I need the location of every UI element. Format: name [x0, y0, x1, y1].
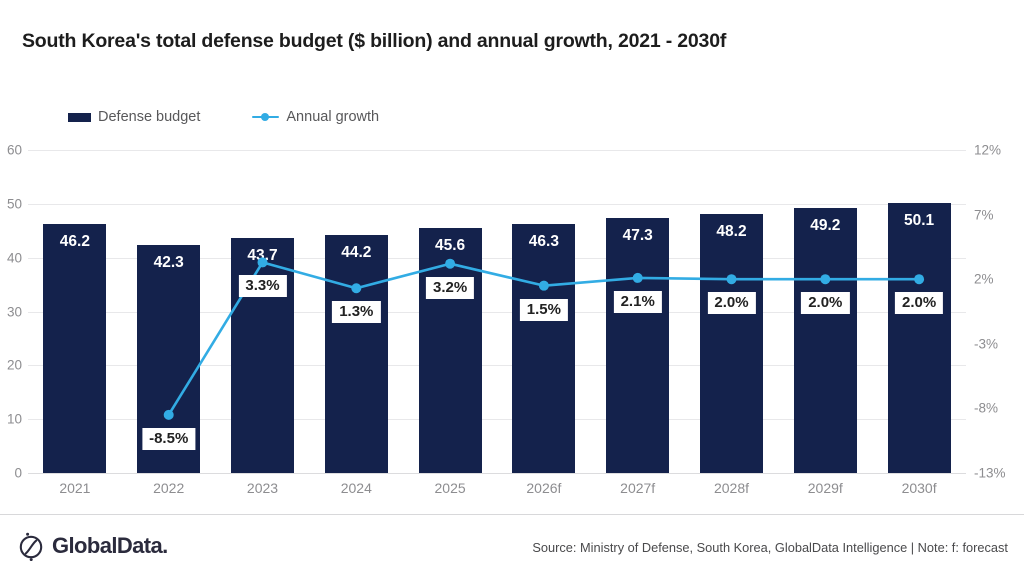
- y-axis-right-tick: -8%: [974, 401, 998, 416]
- y-axis-left-tick: 60: [7, 143, 22, 158]
- chart-legend: Defense budget Annual growth: [68, 106, 379, 128]
- legend-label-annual-growth: Annual growth: [286, 109, 379, 125]
- growth-value-label: 2.0%: [895, 292, 943, 314]
- y-axis-left-tick: 50: [7, 196, 22, 211]
- footer: GlobalData. Source: Ministry of Defense,…: [0, 515, 1024, 576]
- growth-value-label: 2.1%: [614, 291, 662, 313]
- globaldata-logo: GlobalData.: [18, 531, 168, 561]
- x-axis-tick-2030f: 2030f: [902, 480, 937, 496]
- y-axis-left-tick: 30: [7, 304, 22, 319]
- x-axis-tick-2022: 2022: [153, 480, 184, 496]
- source-note: Source: Ministry of Defense, South Korea…: [532, 540, 1008, 555]
- y-axis-right: -13%-8%-3%2%7%12%: [974, 150, 1022, 473]
- growth-data-point[interactable]: [351, 283, 361, 293]
- x-axis-tick-2021: 2021: [59, 480, 90, 496]
- y-axis-right-tick: 12%: [974, 143, 1001, 158]
- bar-swatch-icon: [68, 113, 91, 122]
- x-axis-tick-2027f: 2027f: [620, 480, 655, 496]
- legend-item-annual-growth[interactable]: Annual growth: [252, 106, 379, 128]
- chart-page: South Korea's total defense budget ($ bi…: [0, 0, 1024, 576]
- growth-data-point[interactable]: [633, 273, 643, 283]
- growth-data-point[interactable]: [164, 410, 174, 420]
- y-axis-left: 0102030405060: [0, 150, 22, 473]
- growth-data-point[interactable]: [258, 257, 268, 267]
- y-axis-left-tick: 10: [7, 412, 22, 427]
- page-title: South Korea's total defense budget ($ bi…: [22, 30, 726, 53]
- x-axis-tick-2024: 2024: [341, 480, 372, 496]
- y-axis-right-tick: -3%: [974, 336, 998, 351]
- growth-value-label: 1.3%: [332, 301, 380, 323]
- legend-item-defense-budget[interactable]: Defense budget: [68, 106, 200, 128]
- legend-label-defense-budget: Defense budget: [98, 109, 200, 125]
- growth-value-label: 2.0%: [801, 292, 849, 314]
- growth-data-point[interactable]: [914, 274, 924, 284]
- growth-data-point[interactable]: [727, 274, 737, 284]
- growth-value-label: 3.2%: [426, 277, 474, 299]
- globaldata-circle-logo-icon: [18, 531, 44, 561]
- plot-area: 46.242.343.744.245.646.347.348.249.250.1…: [28, 150, 966, 473]
- growth-value-label: 1.5%: [520, 299, 568, 321]
- y-axis-right-tick: 2%: [974, 272, 994, 287]
- growth-data-point[interactable]: [820, 274, 830, 284]
- x-axis-tick-2028f: 2028f: [714, 480, 749, 496]
- y-axis-left-tick: 20: [7, 358, 22, 373]
- x-axis-tick-2025: 2025: [435, 480, 466, 496]
- growth-data-point[interactable]: [539, 281, 549, 291]
- logo-text: GlobalData.: [52, 533, 168, 559]
- growth-value-label: 3.3%: [238, 275, 286, 297]
- line-swatch-icon: [252, 112, 279, 123]
- y-axis-left-tick: 0: [14, 466, 22, 481]
- y-axis-right-tick: -13%: [974, 466, 1006, 481]
- x-axis-tick-2029f: 2029f: [808, 480, 843, 496]
- x-axis: 202120222023202420252026f2027f2028f2029f…: [28, 480, 966, 504]
- gridline: [28, 473, 966, 474]
- x-axis-tick-2026f: 2026f: [526, 480, 561, 496]
- growth-value-label: 2.0%: [707, 292, 755, 314]
- y-axis-right-tick: 7%: [974, 207, 994, 222]
- x-axis-tick-2023: 2023: [247, 480, 278, 496]
- y-axis-left-tick: 40: [7, 250, 22, 265]
- growth-value-label: -8.5%: [142, 428, 195, 450]
- growth-data-point[interactable]: [445, 259, 455, 269]
